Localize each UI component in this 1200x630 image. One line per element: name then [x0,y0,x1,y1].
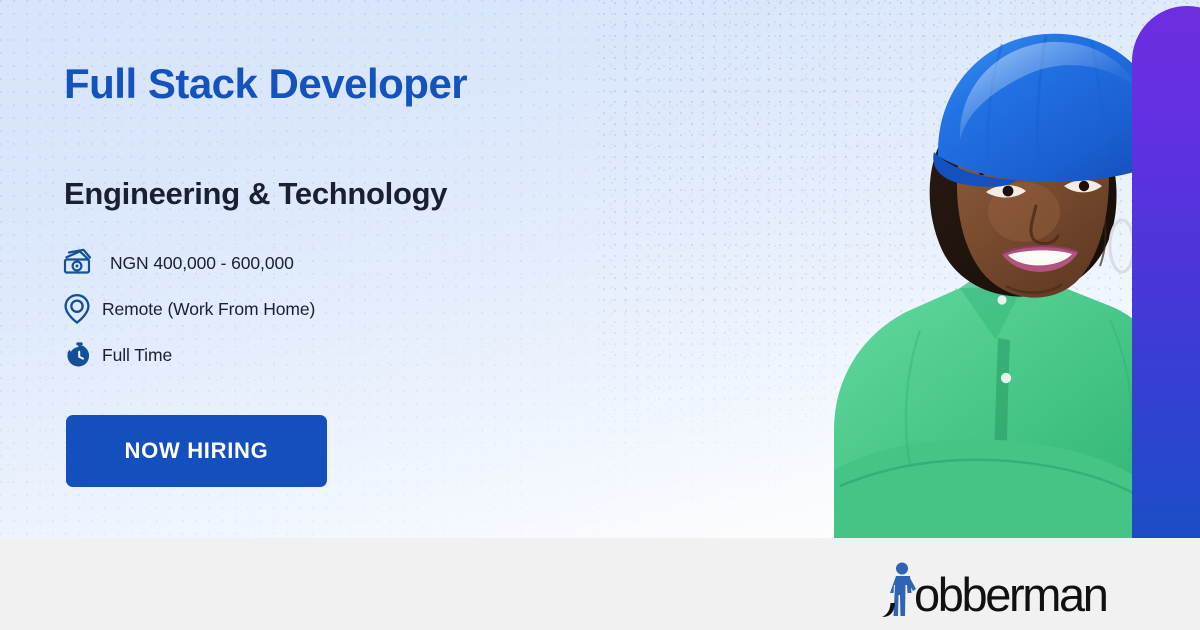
location-icon [60,293,102,325]
worker-photo [810,0,1170,545]
detail-location: Remote (Work From Home) [60,292,315,326]
job-category: Engineering & Technology [64,176,447,212]
money-icon [60,248,102,278]
job-advert-banner: Full Stack Developer Engineering & Techn… [0,0,1200,630]
page-title: Full Stack Developer [64,60,467,108]
location-text: Remote (Work From Home) [102,299,315,320]
now-hiring-button[interactable]: NOW HIRING [66,415,327,487]
salary-text: NGN 400,000 - 600,000 [102,253,294,274]
detail-employment-type: Full Time [60,338,315,372]
stopwatch-icon [60,340,102,370]
jobberman-logo: obberman [876,560,1114,618]
employment-type-text: Full Time [102,345,172,366]
job-details-list: NGN 400,000 - 600,000 Remote (Work From … [60,246,315,372]
detail-salary: NGN 400,000 - 600,000 [60,246,315,280]
svg-text:obberman: obberman [914,568,1107,619]
accent-gradient-bar [1132,6,1200,624]
